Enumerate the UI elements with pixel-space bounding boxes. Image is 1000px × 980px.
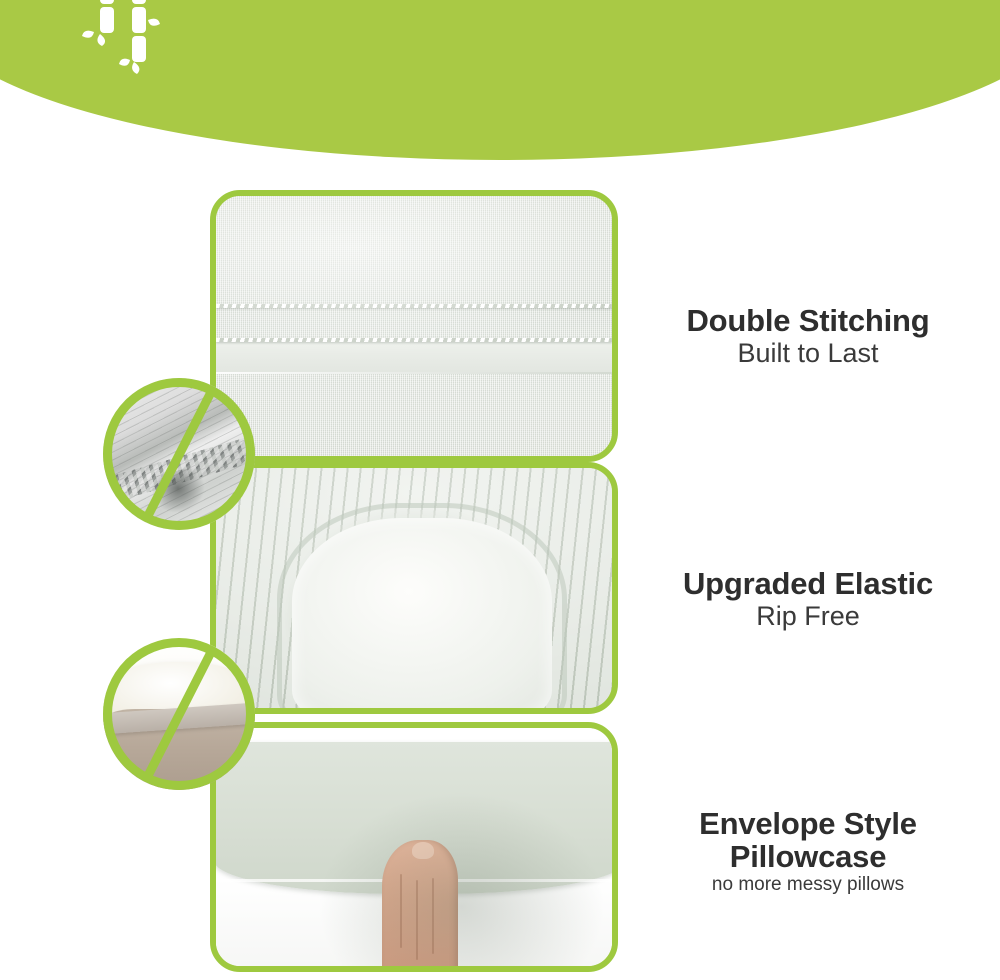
pillow-shadow xyxy=(216,728,612,966)
caption-envelope-pillowcase: Envelope Style Pillowcase no more messy … xyxy=(622,808,994,897)
feature-photo-upgraded-elastic xyxy=(210,462,618,714)
badge-no-messy-pillow xyxy=(103,638,255,790)
elastic-seam-ring xyxy=(282,508,562,714)
header-band: Improved Quality Rip Free xyxy=(0,0,1000,160)
caption-double-stitching: Double Stitching Built to Last xyxy=(622,305,994,368)
caption-subtitle-upgraded-elastic: Rip Free xyxy=(622,601,994,631)
caption-title-envelope-pillowcase: Envelope Style xyxy=(622,808,994,841)
feature-photo-double-stitching xyxy=(210,190,618,462)
feature-photo-envelope-pillowcase xyxy=(210,722,618,972)
badge-no-rip xyxy=(103,378,255,530)
torn-fabric-photo xyxy=(103,378,255,530)
caption-title2-envelope-pillowcase: Pillowcase xyxy=(622,841,994,874)
infographic-stage: Improved Quality Rip Free xyxy=(0,0,1000,980)
caption-title-upgraded-elastic: Upgraded Elastic xyxy=(622,568,994,601)
pillowcase-hand-photo xyxy=(216,728,612,966)
fitted-sheet-corner-photo xyxy=(216,468,612,708)
caption-title-double-stitching: Double Stitching xyxy=(622,305,994,338)
bamboo-stalks-icon xyxy=(70,0,190,78)
caption-subtitle-double-stitching: Built to Last xyxy=(622,338,994,368)
caption-upgraded-elastic: Upgraded Elastic Rip Free xyxy=(622,568,994,631)
header-inner: Improved Quality Rip Free xyxy=(0,0,1000,160)
fabric-sheen xyxy=(216,196,612,456)
caption-note-envelope-pillowcase: no more messy pillows xyxy=(622,874,994,897)
stitched-fabric-photo xyxy=(216,196,612,456)
messy-pillow-photo xyxy=(103,638,255,790)
